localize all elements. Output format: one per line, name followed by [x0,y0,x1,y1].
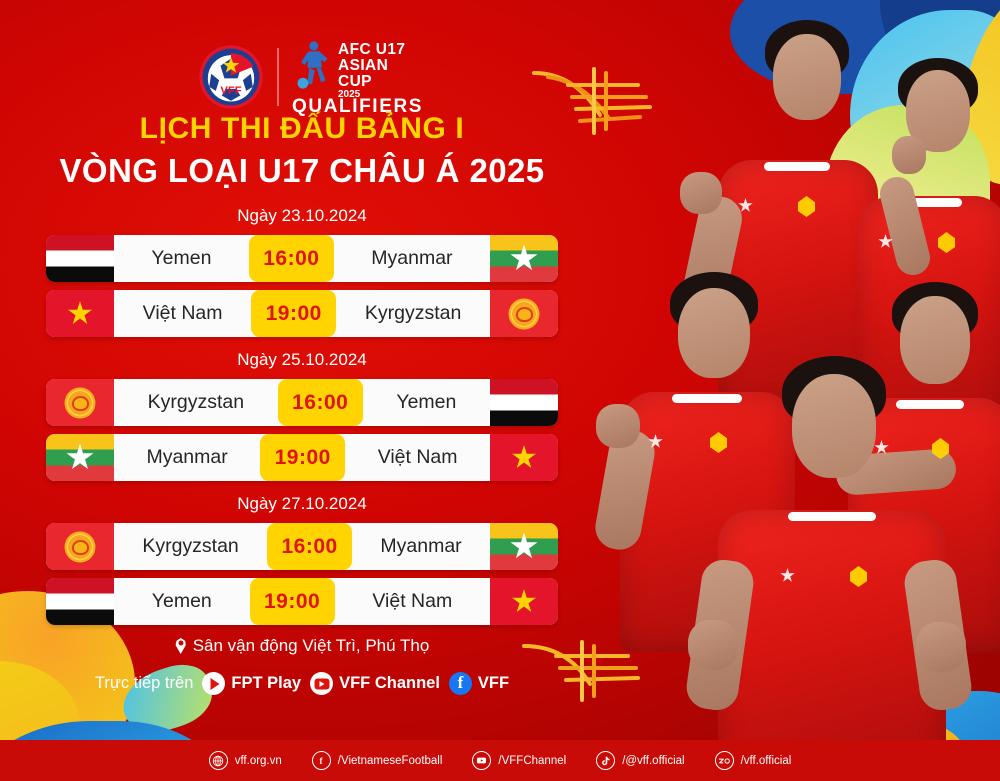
broadcast-fpt-play[interactable]: FPT Play [202,672,301,695]
match-row[interactable]: Việt Nam 19:00 Kyrgyzstan [46,290,558,337]
afc-logo: AFC U17 ASIAN CUP 2025 QUALIFIERS [292,40,412,118]
afc-player-icon [292,40,332,90]
flag-kyrgyzstan [490,290,558,337]
zalo-icon [715,751,734,770]
youtube-icon [310,672,333,695]
away-team-name: Myanmar [334,235,490,282]
flag-vietnam [490,434,558,481]
away-team-name: Việt Nam [335,578,490,625]
flag-kyrgyzstan [46,379,114,426]
vff-logo-icon: VFF [198,44,264,110]
venue: Sân vận động Việt Trì, Phú Thọ [0,636,604,656]
svg-text:f: f [320,756,324,766]
match-time: 16:00 [267,523,352,570]
page-title-line1: LỊCH THI ĐẤU BẢNG I [0,112,604,146]
match-time: 16:00 [249,235,334,282]
day-block-1: Ngày 23.10.2024 Yemen 16:00 Myanmar Việt… [0,206,604,345]
footer-label: /VFFChannel [498,755,566,767]
header: VFF AFC U17 ASIAN CUP 2025 QUALIFIERS [0,22,620,112]
match-row[interactable]: Kyrgyzstan 16:00 Myanmar [46,523,558,570]
day-block-3: Ngày 27.10.2024 Kyrgyzstan 16:00 Myanmar… [0,494,604,633]
flag-kyrgyzstan [46,523,114,570]
away-team-name: Kyrgyzstan [336,290,490,337]
day-label: Ngày 27.10.2024 [0,494,604,514]
broadcast-row: Trực tiếp trên FPT Play VFF Channel VFF [0,672,604,695]
day-block-2: Ngày 25.10.2024 Kyrgyzstan 16:00 Yemen M… [0,350,604,489]
broadcast-vff-channel[interactable]: VFF Channel [310,672,440,695]
home-team-name: Kyrgyzstan [114,379,278,426]
facebook-icon [449,672,472,695]
venue-text: Sân vận động Việt Trì, Phú Thọ [193,636,430,655]
facebook-icon: f [312,751,331,770]
flag-yemen [46,578,114,625]
afc-line2: ASIAN CUP [338,58,412,90]
flag-myanmar [490,523,558,570]
footer-zalo[interactable]: /vff.official [715,751,792,770]
match-row[interactable]: Yemen 19:00 Việt Nam [46,578,558,625]
footer-label: /@vff.official [622,755,684,767]
match-time: 19:00 [251,290,336,337]
poster-root: VFF AFC U17 ASIAN CUP 2025 QUALIFIERS LỊ… [0,0,1000,781]
match-time: 19:00 [260,434,345,481]
home-team-name: Yemen [114,235,249,282]
broadcast-prefix: Trực tiếp trên [95,674,193,693]
flag-yemen [46,235,114,282]
away-team-name: Yemen [363,379,490,426]
footer-youtube[interactable]: /VFFChannel [472,751,566,770]
broadcast-vff-facebook[interactable]: VFF [449,672,509,695]
day-label: Ngày 23.10.2024 [0,206,604,226]
flag-myanmar [490,235,558,282]
day-label: Ngày 25.10.2024 [0,350,604,370]
players-photo [540,0,1000,781]
broadcast-label: VFF [478,674,509,693]
footer-tiktok[interactable]: /@vff.official [596,751,684,770]
globe-icon [209,751,228,770]
flag-vietnam [46,290,114,337]
away-team-name: Myanmar [352,523,490,570]
tiktok-icon [596,751,615,770]
match-time: 19:00 [250,578,335,625]
broadcast-label: FPT Play [231,674,301,693]
flag-myanmar [46,434,114,481]
away-team-name: Việt Nam [345,434,490,481]
match-row[interactable]: Yemen 16:00 Myanmar [46,235,558,282]
flag-yemen [490,379,558,426]
footer-label: vff.org.vn [235,755,282,767]
fpt-play-icon [202,672,225,695]
page-title-line2: VÒNG LOẠI U17 CHÂU Á 2025 [0,152,604,190]
home-team-name: Việt Nam [114,290,251,337]
footer-facebook[interactable]: f /VietnameseFootball [312,751,443,770]
afc-title-text: AFC U17 ASIAN CUP 2025 [338,42,412,101]
footer-label: /vff.official [741,755,792,767]
match-row[interactable]: Myanmar 19:00 Việt Nam [46,434,558,481]
home-team-name: Yemen [114,578,250,625]
footer-bar: vff.org.vn f /VietnameseFootball /VFFCha… [0,740,1000,781]
header-divider [277,48,279,106]
broadcast-label: VFF Channel [339,674,440,693]
match-time: 16:00 [278,379,363,426]
match-row[interactable]: Kyrgyzstan 16:00 Yemen [46,379,558,426]
footer-label: /VietnameseFootball [338,755,443,767]
home-team-name: Kyrgyzstan [114,523,267,570]
location-pin-icon [175,638,187,654]
flag-vietnam [490,578,558,625]
home-team-name: Myanmar [114,434,260,481]
footer-website[interactable]: vff.org.vn [209,751,282,770]
svg-text:VFF: VFF [220,85,241,97]
afc-line1: AFC U17 [338,42,412,58]
youtube-icon [472,751,491,770]
